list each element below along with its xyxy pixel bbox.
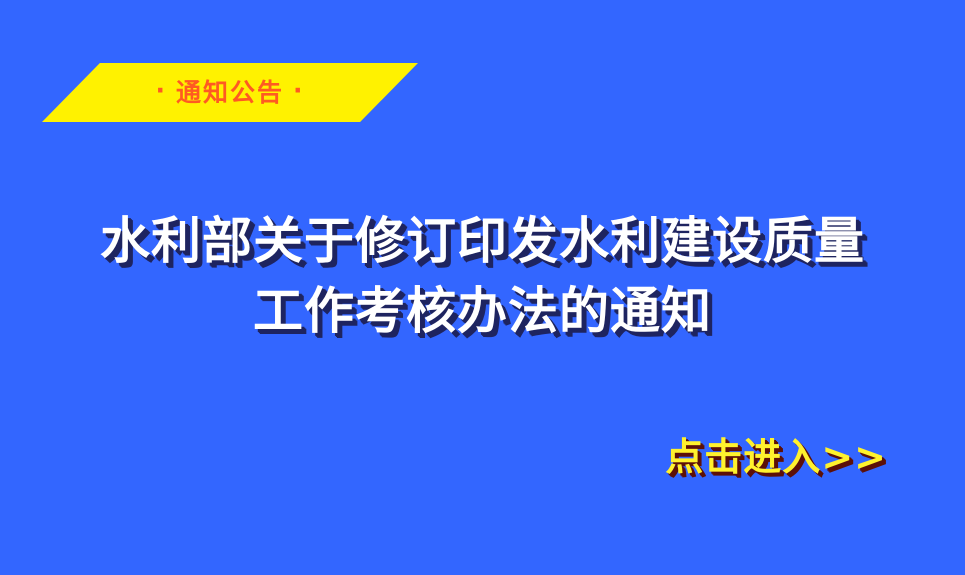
banner-label-group: · 通知公告 · (42, 63, 418, 122)
double-chevron-right-icon: >> (821, 435, 887, 479)
banner-right-dot-icon: · (293, 78, 305, 103)
banner-left-dot-icon: · (155, 78, 167, 103)
banner-title-text: 通知公告 (176, 80, 284, 105)
announcement-banner-slide: · 通知公告 · 水利部关于修订印发水利建设质量 工作考核办法的通知 点击进入>… (0, 0, 965, 575)
enter-link[interactable]: 点击进入>> (665, 436, 887, 479)
headline-line-2: 工作考核办法的通知 (0, 276, 965, 346)
enter-link-label: 点击进入 (665, 434, 821, 479)
announcement-headline: 水利部关于修订印发水利建设质量 工作考核办法的通知 (0, 206, 965, 346)
headline-line-1: 水利部关于修订印发水利建设质量 (0, 206, 965, 276)
section-header-banner: · 通知公告 · (42, 63, 418, 122)
